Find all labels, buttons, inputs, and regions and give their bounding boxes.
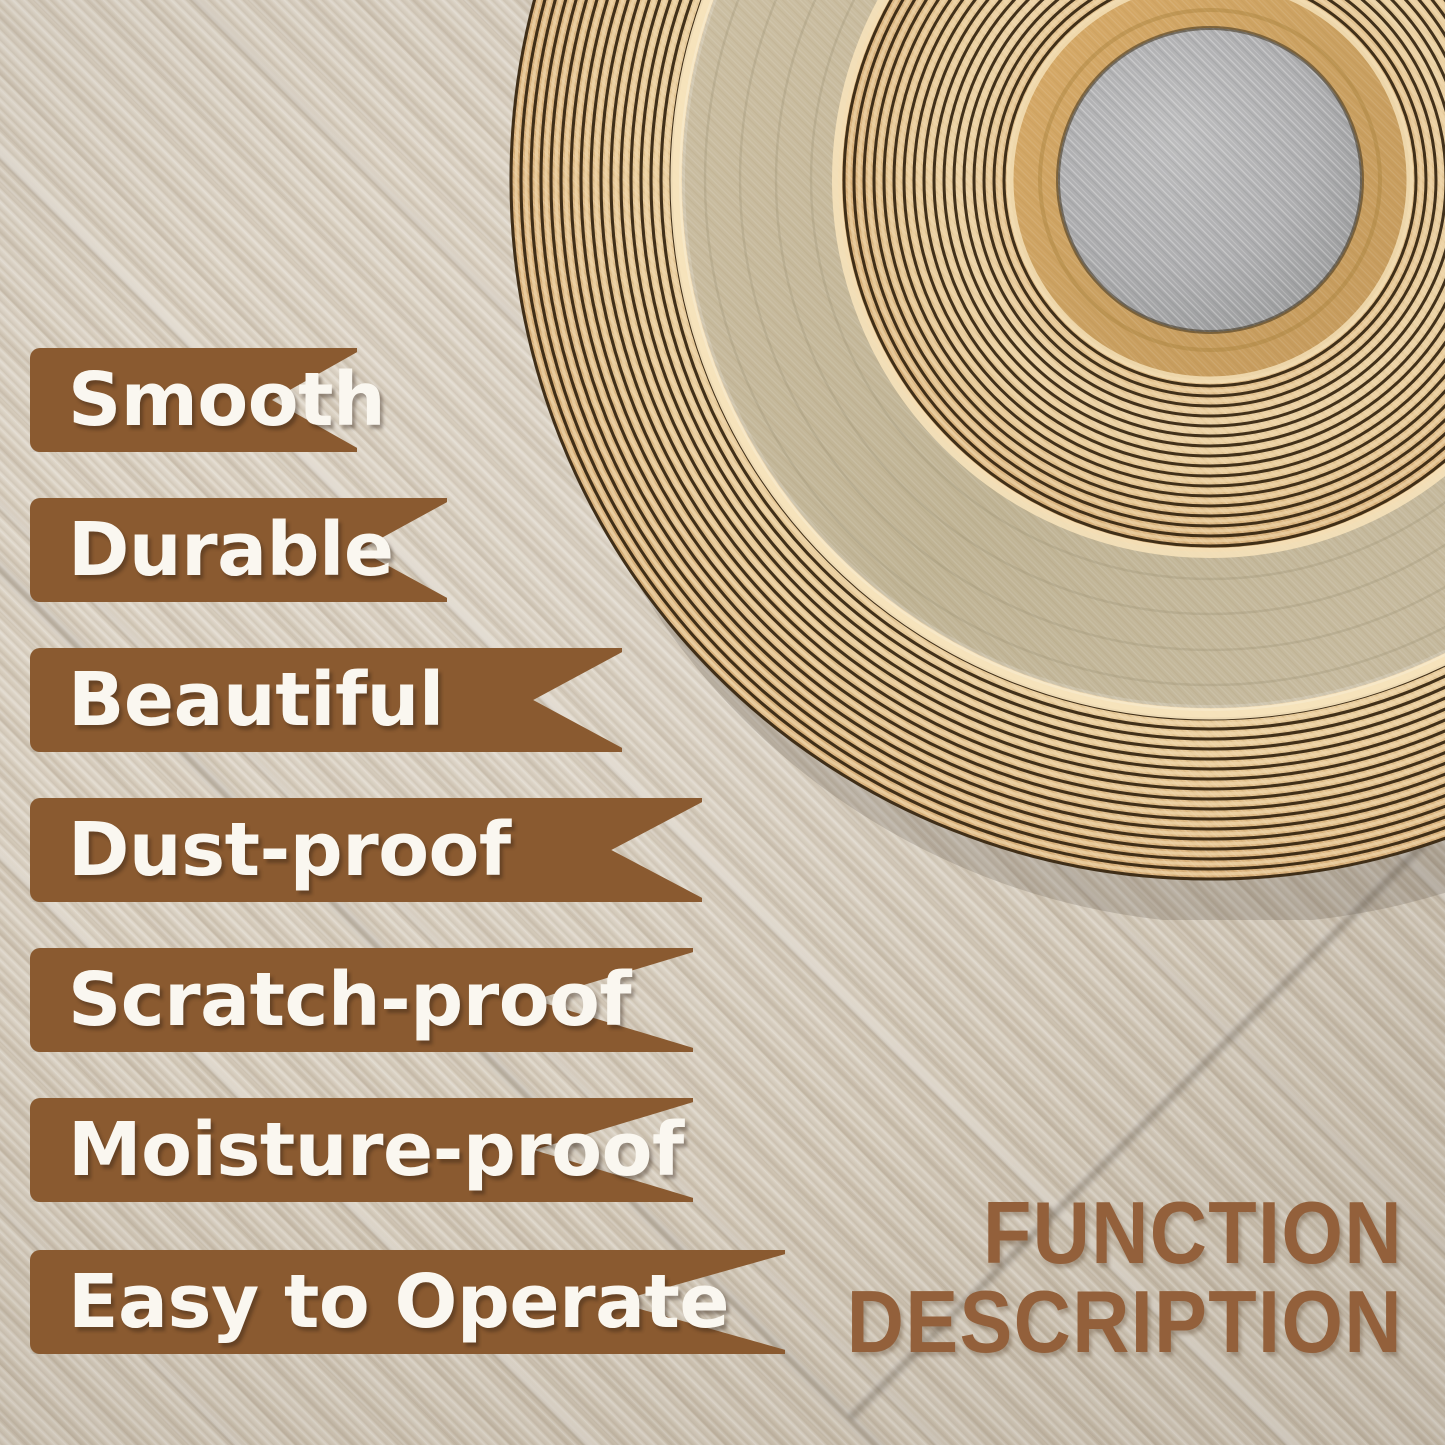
feature-label: Durable <box>30 513 394 587</box>
feature-banner-smooth[interactable]: Smooth <box>30 348 357 452</box>
feature-label: Dust-proof <box>30 813 511 887</box>
feature-banner-scratch-proof[interactable]: Scratch-proof <box>30 948 693 1052</box>
product-infographic: Smooth Durable Beautiful Dust-proof Scra… <box>0 0 1445 1445</box>
feature-label: Moisture-proof <box>30 1113 684 1187</box>
feature-banner-dust-proof[interactable]: Dust-proof <box>30 798 702 902</box>
feature-label: Smooth <box>30 363 385 437</box>
feature-banner-durable[interactable]: Durable <box>30 498 447 602</box>
page-title-line-1: FUNCTION <box>847 1188 1403 1278</box>
feature-label: Easy to Operate <box>30 1265 729 1339</box>
feature-banner-easy-to-operate[interactable]: Easy to Operate <box>30 1250 785 1354</box>
page-title-line-2: DESCRIPTION <box>847 1277 1403 1367</box>
feature-label: Beautiful <box>30 663 444 737</box>
feature-banner-moisture-proof[interactable]: Moisture-proof <box>30 1098 693 1202</box>
feature-banner-beautiful[interactable]: Beautiful <box>30 648 622 752</box>
page-title: FUNCTION DESCRIPTION <box>847 1188 1403 1368</box>
feature-label: Scratch-proof <box>30 963 631 1037</box>
